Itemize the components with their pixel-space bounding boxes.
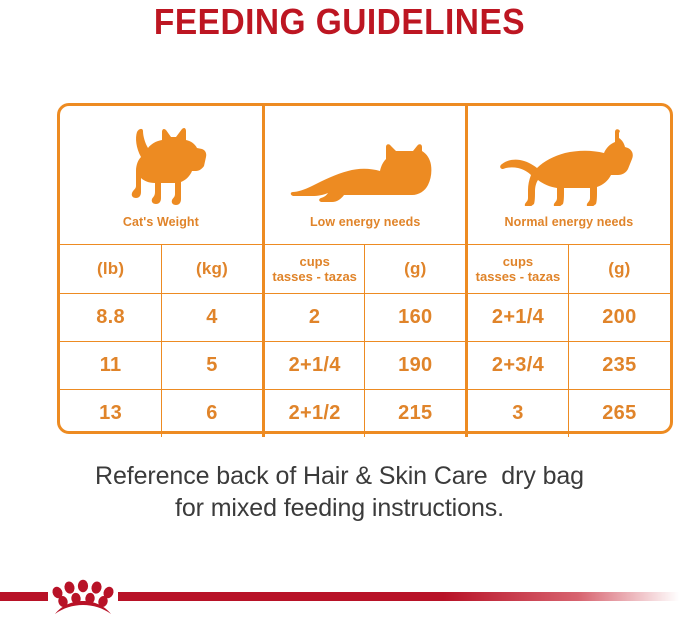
- cell-low-grams: 160: [365, 294, 467, 342]
- subheader-normal-cups: cups tasses - tazas: [467, 245, 569, 294]
- cell-low-cups: 2+1/2: [263, 390, 365, 438]
- cell-kg: 5: [162, 342, 264, 390]
- table-row: 13 6 2+1/2 215 3 265: [60, 390, 670, 438]
- cell-normal-cups: 3: [467, 390, 569, 438]
- cell-normal-cups: 2+1/4: [467, 294, 569, 342]
- cell-normal-grams: 200: [568, 294, 670, 342]
- cell-normal-grams: 235: [568, 342, 670, 390]
- table-subheader-row: (lb) (kg) cups tasses - tazas (g) cups t…: [60, 245, 670, 294]
- header-cell-low-energy: Low energy needs: [263, 106, 466, 245]
- caption-text: Reference back of Hair & Skin Care dry b…: [0, 460, 679, 524]
- subheader-lb: (lb): [60, 245, 162, 294]
- cell-lb: 8.8: [60, 294, 162, 342]
- subheader-low-grams: (g): [365, 245, 467, 294]
- cell-low-grams: 190: [365, 342, 467, 390]
- table-header-row: Cat's Weight Low energy needs Normal ene…: [60, 106, 670, 245]
- header-label-cats-weight: Cat's Weight: [64, 214, 258, 229]
- page-title: FEEDING GUIDELINES: [24, 2, 655, 42]
- cell-lb: 11: [60, 342, 162, 390]
- cell-kg: 4: [162, 294, 264, 342]
- subheader-low-cups-line1: cups: [265, 254, 365, 269]
- cell-normal-cups: 2+3/4: [467, 342, 569, 390]
- lying-cat-icon: [265, 122, 465, 208]
- header-cell-cats-weight: Cat's Weight: [60, 106, 263, 245]
- table-row: 8.8 4 2 160 2+1/4 200: [60, 294, 670, 342]
- cell-low-cups: 2: [263, 294, 365, 342]
- header-label-low-energy: Low energy needs: [269, 214, 461, 229]
- subheader-low-cups: cups tasses - tazas: [263, 245, 365, 294]
- footer-bar: [0, 578, 679, 616]
- walking-cat-icon: [468, 122, 670, 208]
- cell-kg: 6: [162, 390, 264, 438]
- header-cell-normal-energy: Normal energy needs: [467, 106, 670, 245]
- royal-canin-crown-paw-logo-icon: [46, 578, 120, 616]
- cell-low-grams: 215: [365, 390, 467, 438]
- subheader-kg: (kg): [162, 245, 264, 294]
- header-label-normal-energy: Normal energy needs: [472, 214, 666, 229]
- footer-rule-left: [0, 592, 48, 601]
- subheader-normal-grams: (g): [568, 245, 670, 294]
- footer-rule-right: [118, 592, 679, 601]
- standing-cat-icon: [60, 122, 262, 208]
- feeding-guidelines-table: Cat's Weight Low energy needs Normal ene…: [57, 103, 673, 434]
- cell-normal-grams: 265: [568, 390, 670, 438]
- subheader-normal-cups-line1: cups: [468, 254, 568, 269]
- cell-lb: 13: [60, 390, 162, 438]
- cell-low-cups: 2+1/4: [263, 342, 365, 390]
- subheader-normal-cups-line2: tasses - tazas: [468, 269, 568, 284]
- subheader-low-cups-line2: tasses - tazas: [265, 269, 365, 284]
- table-row: 11 5 2+1/4 190 2+3/4 235: [60, 342, 670, 390]
